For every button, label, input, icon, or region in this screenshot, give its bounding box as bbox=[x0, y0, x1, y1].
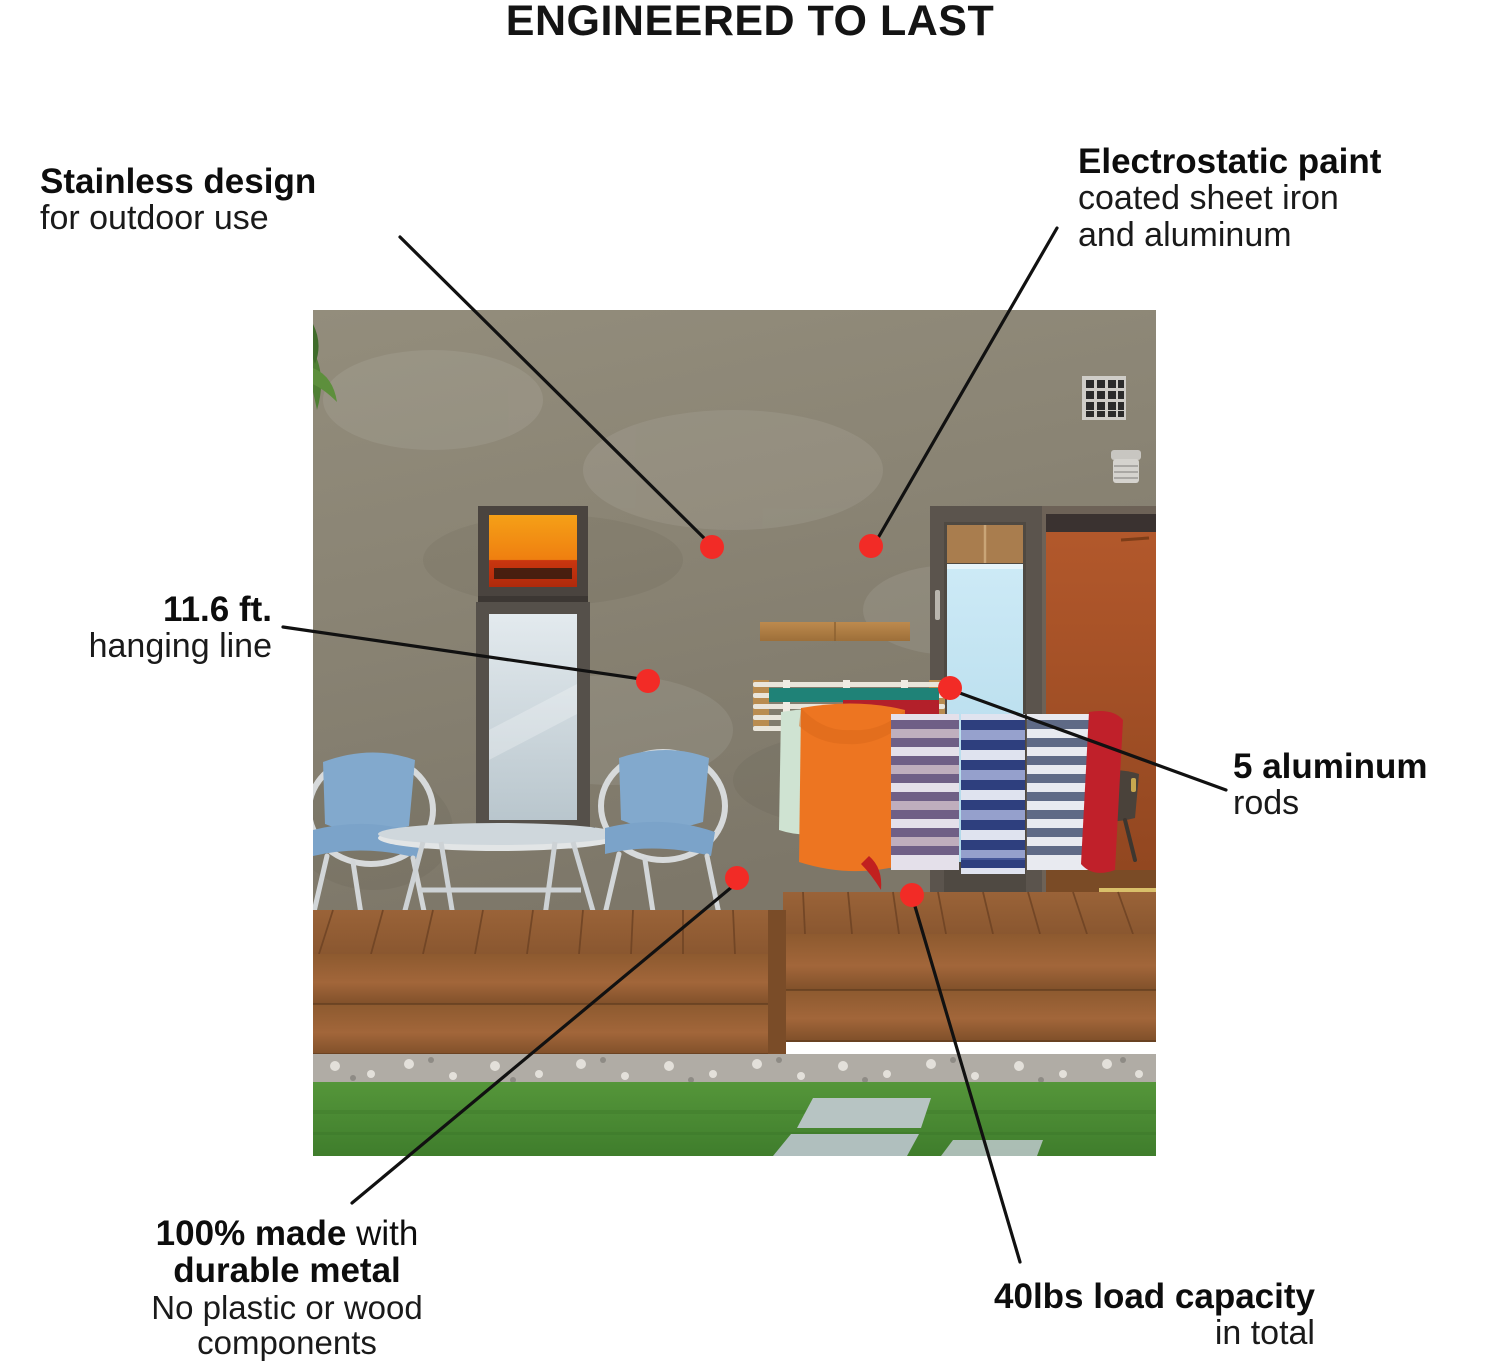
callout-capacity-headline: 40lbs load capacity bbox=[845, 1278, 1315, 1315]
bulkhead-light bbox=[1111, 450, 1141, 483]
callout-rods-headline: 5 aluminum bbox=[1233, 748, 1427, 785]
exterior-window bbox=[473, 506, 595, 841]
callout-electrostatic-headline: Electrostatic paint bbox=[1078, 143, 1381, 180]
callout-capacity-sub: in total bbox=[845, 1315, 1315, 1351]
callout-durable-headline-line2: durable metal bbox=[92, 1252, 482, 1289]
callout-stainless-sub: for outdoor use bbox=[40, 200, 316, 236]
wall-vent-grille bbox=[1082, 376, 1126, 420]
callout-electrostatic-sub-line1: coated sheet iron bbox=[1078, 180, 1381, 216]
infographic-canvas: ENGINEERED TO LAST bbox=[0, 0, 1500, 1369]
callout-durable-sub-line1: No plastic or wood bbox=[92, 1290, 482, 1325]
wooden-deck bbox=[313, 892, 1156, 1056]
callout-stainless-headline: Stainless design bbox=[40, 163, 316, 200]
callout-durable-headline-line1: 100% made with bbox=[92, 1215, 482, 1252]
callout-electrostatic-paint: Electrostatic paint coated sheet iron an… bbox=[1078, 143, 1381, 253]
callout-rods-sub: rods bbox=[1233, 785, 1427, 821]
callout-stainless-design: Stainless design for outdoor use bbox=[40, 163, 316, 237]
callout-durable-sub-line2: components bbox=[92, 1325, 482, 1360]
callout-aluminum-rods: 5 aluminum rods bbox=[1233, 748, 1427, 822]
callout-electrostatic-sub-line2: and aluminum bbox=[1078, 217, 1381, 253]
callout-hanging-headline: 11.6 ft. bbox=[0, 591, 272, 628]
product-lifestyle-photo bbox=[313, 310, 1156, 1156]
durable-regular: with bbox=[346, 1214, 418, 1253]
callout-hanging-line: 11.6 ft. hanging line bbox=[0, 591, 272, 665]
callout-hanging-sub: hanging line bbox=[0, 628, 272, 664]
callout-durable-metal: 100% made with durable metal No plastic … bbox=[92, 1215, 482, 1360]
durable-bold-1: 100% made bbox=[156, 1214, 347, 1253]
gravel-strip bbox=[313, 1054, 1156, 1084]
wall-plank-shelf bbox=[760, 622, 910, 641]
hanging-laundry bbox=[779, 703, 1123, 890]
page-title: ENGINEERED TO LAST bbox=[0, 0, 1500, 45]
callout-load-capacity: 40lbs load capacity in total bbox=[845, 1278, 1315, 1352]
